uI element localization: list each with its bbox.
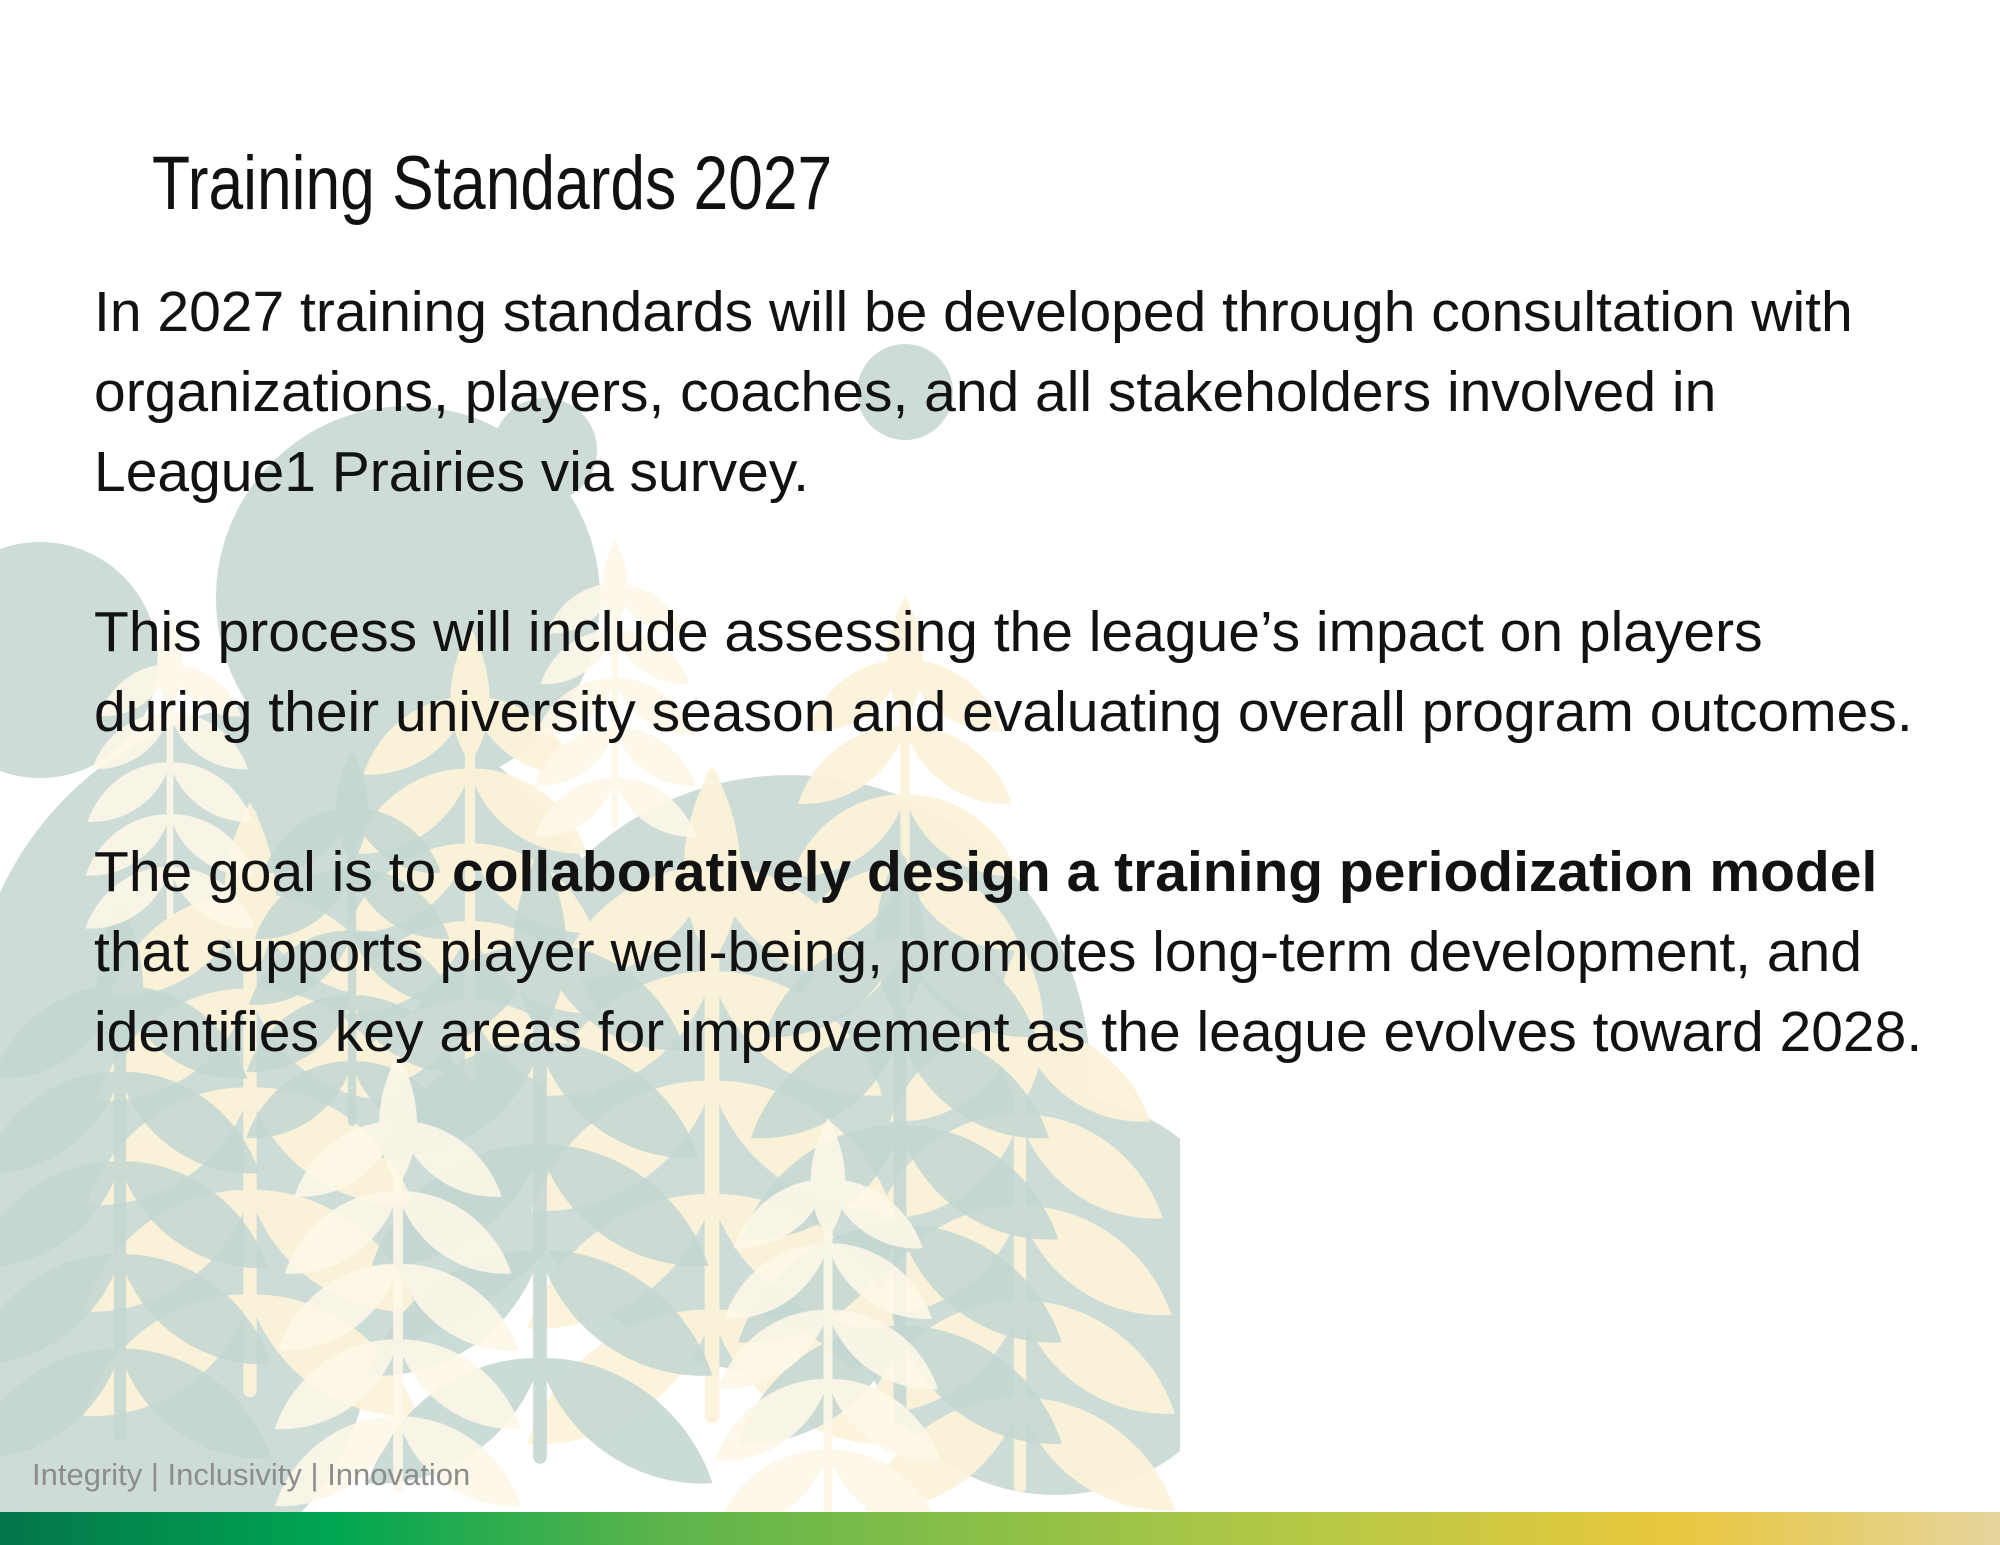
bottom-gradient-bar — [0, 1512, 2000, 1545]
paragraph-run: In 2027 training standards will be devel… — [94, 280, 1853, 504]
paragraph-run-emphasis: collaboratively design a training period… — [452, 840, 1877, 904]
body-paragraph-3: The goal is to collaboratively design a … — [94, 832, 1924, 1072]
paragraph-run: that supports player well-being, promote… — [94, 920, 1922, 1064]
body-paragraph-1: In 2027 training standards will be devel… — [94, 272, 1924, 512]
footer-tagline: Integrity | Inclusivity | Innovation — [32, 1455, 470, 1495]
paragraph-run: This process will include assessing the … — [94, 600, 1913, 744]
page-title: Training Standards 2027 — [152, 139, 832, 229]
paragraph-run: The goal is to — [94, 840, 452, 904]
body-paragraph-2: This process will include assessing the … — [94, 592, 1924, 752]
slide-body-text: In 2027 training standards will be devel… — [94, 272, 1924, 1072]
presentation-slide: Training Standards 2027 In 2027 training… — [0, 0, 2000, 1545]
